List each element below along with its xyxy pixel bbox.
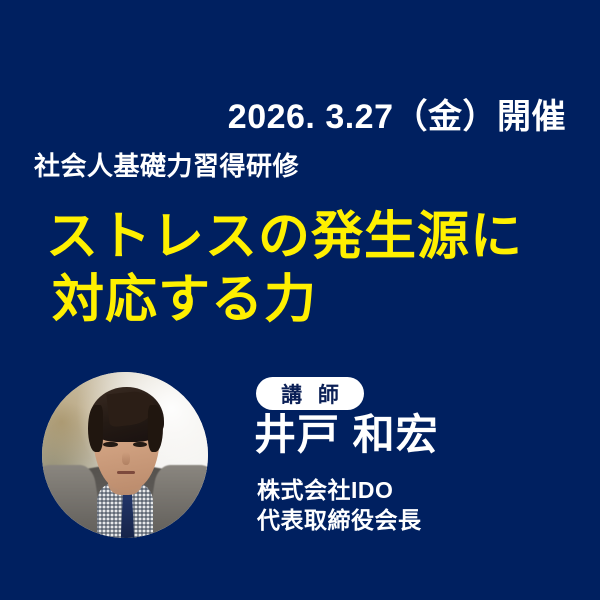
seminar-poster: 2026. 3.27（金）開催 社会人基礎力習得研修 ストレスの発生源に 対応す… [0,0,600,600]
title-line-2: 対応する力 [46,269,523,332]
poster-title: ストレスの発生源に 対応する力 [46,206,523,333]
speaker-company: 株式会社IDO [257,475,422,505]
portrait-nose [122,452,130,465]
speaker-photo [42,372,208,538]
portrait-hair-side-left [88,405,103,451]
portrait-background [42,372,208,538]
speaker-badge: 講 師 [256,377,364,410]
speaker-position: 代表取締役会長 [257,505,422,535]
speaker-name: 井戸 和宏 [254,414,439,456]
portrait-hair-side-right [148,405,163,451]
title-line-1: ストレスの発生源に [46,206,523,269]
speaker-affiliation: 株式会社IDO 代表取締役会長 [257,475,422,536]
event-date: 2026. 3.27（金）開催 [228,100,566,134]
portrait-mouth [117,471,135,474]
portrait-eye-left [103,442,117,448]
program-kicker: 社会人基礎力習得研修 [34,152,299,181]
